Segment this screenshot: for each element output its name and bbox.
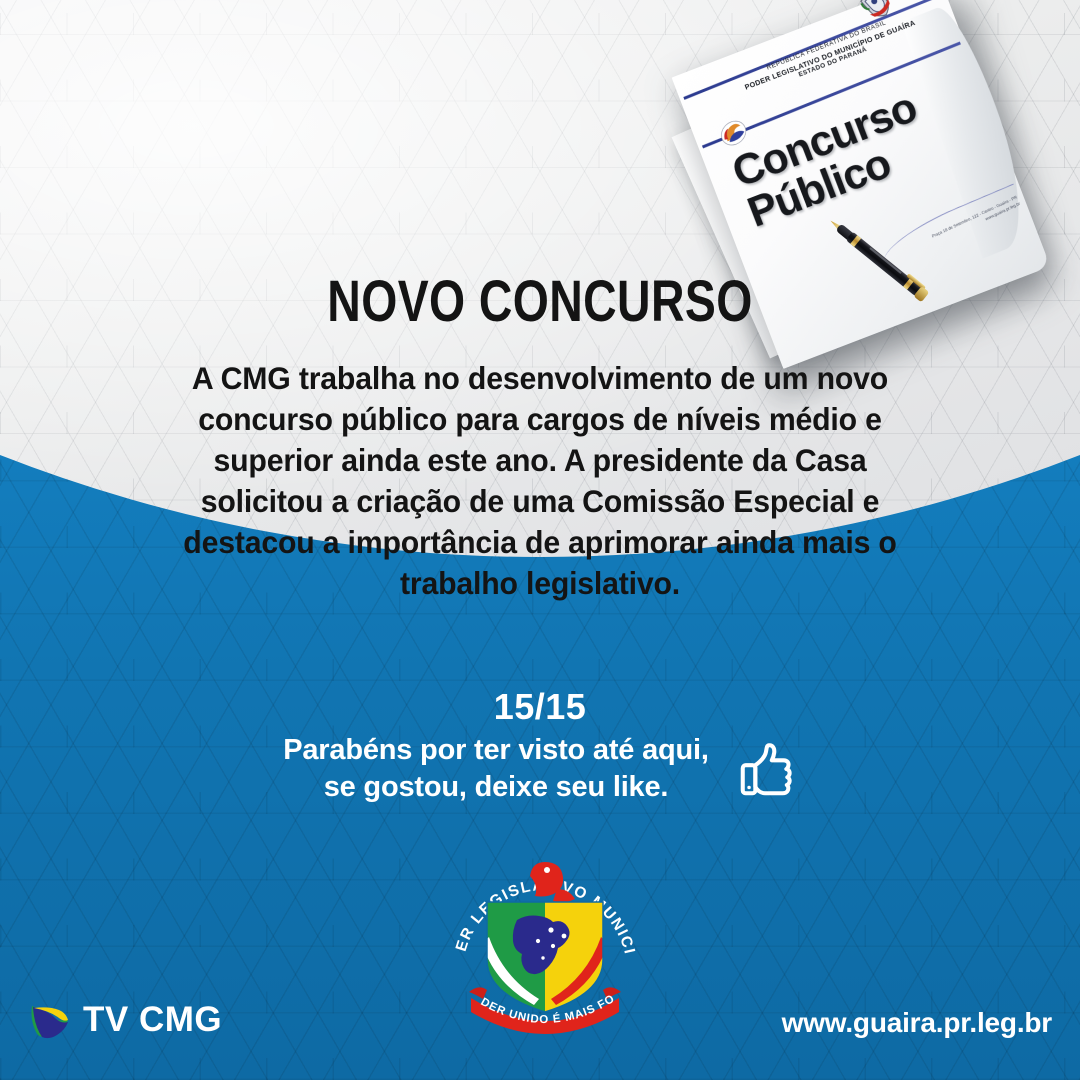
thumbs-up-icon: [735, 739, 797, 801]
like-text-line-2: se gostou, deixe seu like.: [283, 769, 709, 806]
tv-cmg-logo[interactable]: TV CMG: [28, 1000, 222, 1040]
like-text: Parabéns por ter visto até aqui, se gost…: [283, 732, 709, 806]
slide-counter: 15/15: [0, 686, 1080, 728]
social-media-post: REPÚBLICA FEDERATIVA DO BRASIL PODER LEG…: [0, 0, 1080, 1080]
like-text-line-1: Parabéns por ter visto até aqui,: [283, 732, 709, 769]
shield: [482, 897, 608, 1017]
tv-cmg-wordmark: TV CMG: [83, 1000, 222, 1040]
website-url[interactable]: www.guaira.pr.leg.br: [782, 1007, 1052, 1039]
like-call-to-action: Parabéns por ter visto até aqui, se gost…: [0, 732, 1080, 806]
page-title: NOVO CONCURSO: [108, 268, 972, 335]
coat-of-arms-guaira-icon: PODER LEGISLATIVO MUNICIPAL: [445, 842, 645, 1047]
body-paragraph: A CMG trabalha no desenvolvimento de um …: [166, 358, 915, 604]
tv-cmg-play-icon: [28, 1000, 72, 1040]
